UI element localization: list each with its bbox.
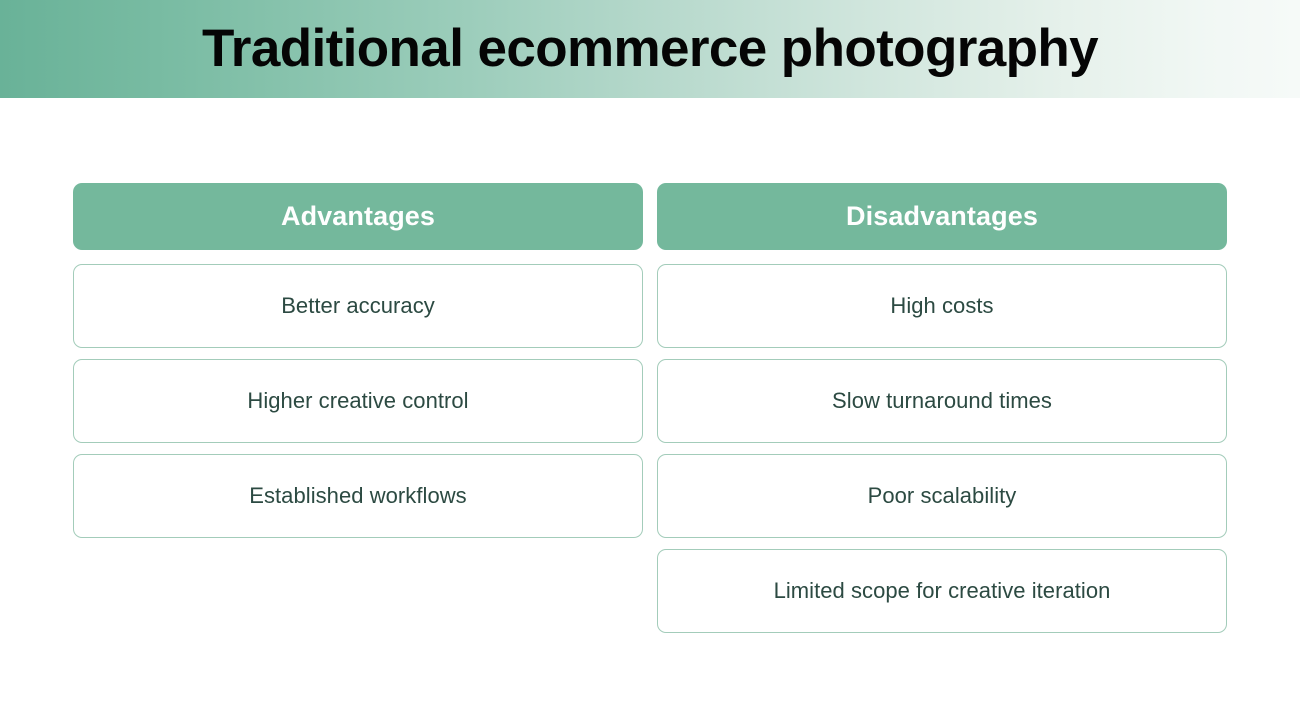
column-header-label: Advantages <box>281 203 435 230</box>
list-item-label: Established workflows <box>249 485 466 507</box>
comparison-column-advantages: Advantages Better accuracy Higher creati… <box>73 183 643 644</box>
list-item-label: Limited scope for creative iteration <box>774 580 1111 602</box>
page-title: Traditional ecommerce photography <box>202 22 1098 75</box>
comparison-column-disadvantages: Disadvantages High costs Slow turnaround… <box>657 183 1227 644</box>
list-item[interactable]: Higher creative control <box>73 359 643 443</box>
column-header-advantages: Advantages <box>73 183 643 250</box>
list-item-label: High costs <box>890 295 993 317</box>
list-item[interactable]: Limited scope for creative iteration <box>657 549 1227 633</box>
comparison-table: Advantages Better accuracy Higher creati… <box>73 183 1227 644</box>
list-item-label: Higher creative control <box>247 390 468 412</box>
list-item-label: Better accuracy <box>281 295 435 317</box>
list-item[interactable]: Established workflows <box>73 454 643 538</box>
list-item[interactable]: Better accuracy <box>73 264 643 348</box>
list-item-label: Slow turnaround times <box>832 390 1052 412</box>
column-header-label: Disadvantages <box>846 203 1038 230</box>
slide-canvas: Traditional ecommerce photography Advant… <box>0 0 1300 714</box>
list-item[interactable]: Poor scalability <box>657 454 1227 538</box>
column-header-disadvantages: Disadvantages <box>657 183 1227 250</box>
slide-header-band: Traditional ecommerce photography <box>0 0 1300 98</box>
list-item[interactable]: Slow turnaround times <box>657 359 1227 443</box>
list-item[interactable]: High costs <box>657 264 1227 348</box>
list-item-label: Poor scalability <box>868 485 1017 507</box>
